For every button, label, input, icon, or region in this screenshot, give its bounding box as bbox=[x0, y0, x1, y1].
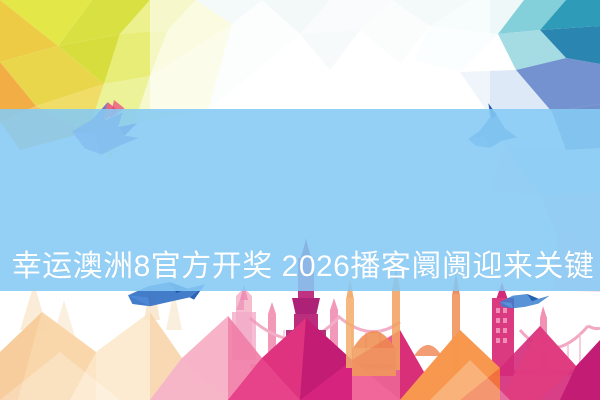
headline-block: 幸运澳洲8官方开奖 2026播客阛阓迎来关键 条天王屹芝接踵退出舞台，苹果加码视… bbox=[0, 218, 600, 291]
headline-clip: 幸运澳洲8官方开奖 2026播客阛阓迎来关键 条天王屹芝接踵退出舞台，苹果加码视… bbox=[0, 109, 600, 291]
headline-line-2: 条天王屹芝接踵退出舞台，苹果加码视频功能激勉行 bbox=[0, 288, 600, 291]
banner: 幸运澳洲8官方开奖 2026播客阛阓迎来关键 条天王屹芝接踵退出舞台，苹果加码视… bbox=[0, 0, 600, 400]
headline-line-1: 幸运澳洲8官方开奖 2026播客阛阓迎来关键 bbox=[12, 246, 595, 288]
